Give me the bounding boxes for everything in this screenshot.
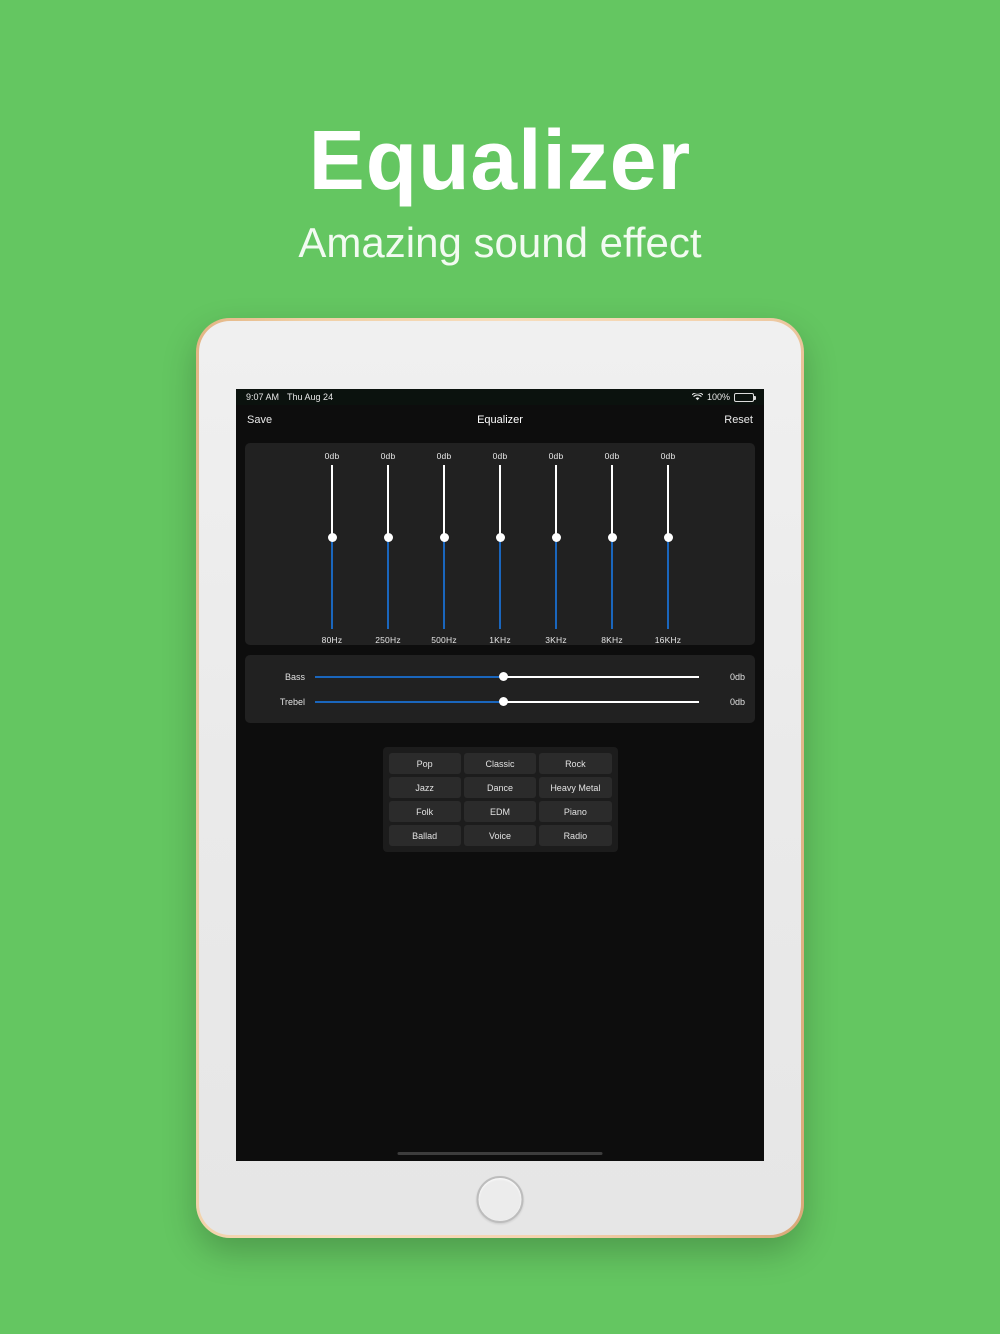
save-button[interactable]: Save [247, 414, 272, 426]
equalizer-band: 0db80Hz [304, 451, 360, 645]
preset-button-rock[interactable]: Rock [539, 753, 611, 774]
band-frequency-label: 500Hz [431, 635, 457, 645]
tablet-screen: 9:07 AM Thu Aug 24 100% [236, 389, 764, 1161]
equalizer-band: 0db500Hz [416, 451, 472, 645]
home-indicator [398, 1152, 603, 1155]
navbar-title: Equalizer [236, 414, 764, 426]
preset-grid: PopClassicRockJazzDanceHeavy MetalFolkED… [383, 747, 618, 852]
band-db-label: 0db [605, 451, 620, 461]
preset-button-folk[interactable]: Folk [389, 801, 461, 822]
tone-control-row: Trebel0db [255, 689, 745, 714]
home-button[interactable] [477, 1176, 524, 1223]
band-slider-fill [555, 537, 557, 629]
tone-control-label: Trebel [255, 697, 315, 707]
status-bar-date: Thu Aug 24 [287, 392, 333, 402]
tone-slider-thumb[interactable] [499, 672, 508, 681]
equalizer-band: 0db1KHz [472, 451, 528, 645]
equalizer-band: 0db3KHz [528, 451, 584, 645]
band-slider-thumb[interactable] [440, 533, 449, 542]
band-slider[interactable] [555, 465, 557, 629]
preset-button-pop[interactable]: Pop [389, 753, 461, 774]
tablet-bezel: 9:07 AM Thu Aug 24 100% [199, 321, 801, 1235]
tone-controls-panel: Bass0dbTrebel0db [245, 655, 755, 723]
band-slider[interactable] [331, 465, 333, 629]
wifi-icon [692, 393, 703, 401]
battery-percent-label: 100% [707, 392, 730, 402]
band-slider[interactable] [499, 465, 501, 629]
band-slider-fill [611, 537, 613, 629]
preset-button-heavy-metal[interactable]: Heavy Metal [539, 777, 611, 798]
band-frequency-label: 8KHz [601, 635, 623, 645]
band-slider-fill [667, 537, 669, 629]
tone-slider-thumb[interactable] [499, 697, 508, 706]
preset-button-jazz[interactable]: Jazz [389, 777, 461, 798]
preset-button-voice[interactable]: Voice [464, 825, 536, 846]
band-slider[interactable] [611, 465, 613, 629]
band-slider-fill [499, 537, 501, 629]
band-frequency-label: 1KHz [489, 635, 511, 645]
equalizer-band: 0db250Hz [360, 451, 416, 645]
tone-control-label: Bass [255, 672, 315, 682]
band-slider-thumb[interactable] [608, 533, 617, 542]
band-slider-thumb[interactable] [552, 533, 561, 542]
equalizer-band: 0db8KHz [584, 451, 640, 645]
preset-button-edm[interactable]: EDM [464, 801, 536, 822]
page-title: Equalizer [0, 118, 1000, 202]
reset-button[interactable]: Reset [724, 414, 753, 426]
band-slider[interactable] [443, 465, 445, 629]
band-slider-thumb[interactable] [664, 533, 673, 542]
tone-control-row: Bass0db [255, 664, 745, 689]
app-content: 0db80Hz0db250Hz0db500Hz0db1KHz0db3KHz0db… [236, 434, 764, 1161]
band-db-label: 0db [661, 451, 676, 461]
preset-button-radio[interactable]: Radio [539, 825, 611, 846]
ios-status-bar: 9:07 AM Thu Aug 24 100% [236, 389, 764, 405]
band-slider-thumb[interactable] [496, 533, 505, 542]
equalizer-band: 0db16KHz [640, 451, 696, 645]
preset-button-ballad[interactable]: Ballad [389, 825, 461, 846]
tone-slider-fill [315, 676, 503, 678]
band-slider-fill [387, 537, 389, 629]
tone-slider[interactable] [315, 701, 699, 703]
tone-control-value: 0db [699, 672, 745, 682]
band-slider-thumb[interactable] [328, 533, 337, 542]
preset-button-classic[interactable]: Classic [464, 753, 536, 774]
band-db-label: 0db [493, 451, 508, 461]
band-db-label: 0db [437, 451, 452, 461]
band-frequency-label: 3KHz [545, 635, 567, 645]
app-navbar: Save Equalizer Reset [236, 405, 764, 434]
tone-control-value: 0db [699, 697, 745, 707]
band-frequency-label: 80Hz [322, 635, 343, 645]
status-bar-time: 9:07 AM [246, 392, 279, 402]
band-slider[interactable] [667, 465, 669, 629]
tone-slider[interactable] [315, 676, 699, 678]
battery-icon [734, 393, 754, 402]
tone-slider-fill [315, 701, 503, 703]
promo-header: Equalizer Amazing sound effect [0, 0, 1000, 266]
band-slider[interactable] [387, 465, 389, 629]
preset-button-piano[interactable]: Piano [539, 801, 611, 822]
band-slider-thumb[interactable] [384, 533, 393, 542]
band-db-label: 0db [549, 451, 564, 461]
page-subtitle: Amazing sound effect [0, 220, 1000, 266]
band-slider-fill [443, 537, 445, 629]
equalizer-band-list: 0db80Hz0db250Hz0db500Hz0db1KHz0db3KHz0db… [245, 451, 755, 645]
band-frequency-label: 16KHz [655, 635, 682, 645]
band-slider-fill [331, 537, 333, 629]
band-db-label: 0db [381, 451, 396, 461]
band-frequency-label: 250Hz [375, 635, 401, 645]
preset-button-dance[interactable]: Dance [464, 777, 536, 798]
band-db-label: 0db [325, 451, 340, 461]
equalizer-bands-panel: 0db80Hz0db250Hz0db500Hz0db1KHz0db3KHz0db… [245, 443, 755, 645]
tablet-device-frame: 9:07 AM Thu Aug 24 100% [196, 318, 804, 1238]
